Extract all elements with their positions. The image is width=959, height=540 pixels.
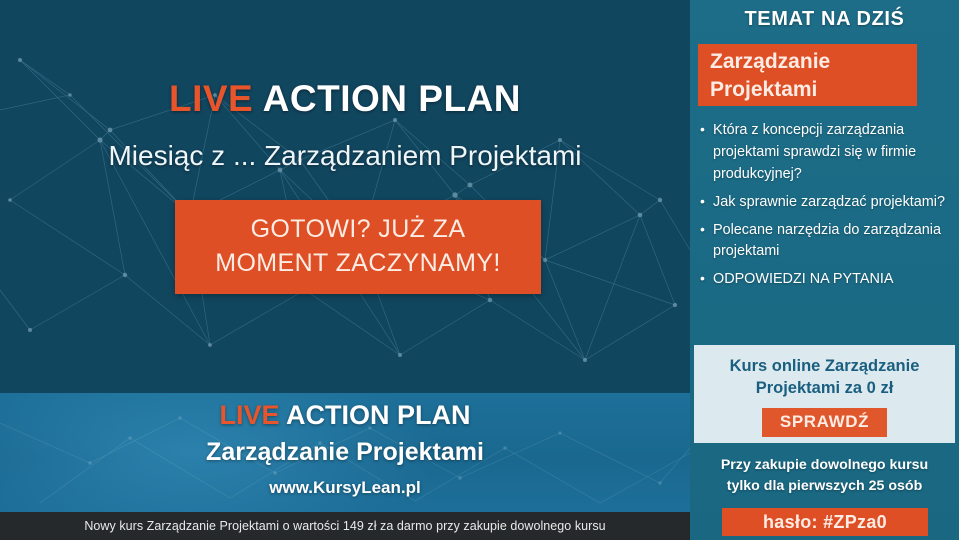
brand-title: LIVE ACTION PLAN — [0, 400, 690, 431]
topic-line-1: Zarządzanie — [710, 48, 917, 76]
list-item: Polecane narzędzia do zarządzania projek… — [700, 220, 954, 264]
list-item: Jak sprawnie zarządzać projektami? — [700, 192, 954, 214]
promo-code-badge: hasło: #ZPza0 — [722, 508, 928, 536]
offer-line-1: Kurs online Zarządzanie — [730, 355, 920, 377]
broadcast-overlay: LIVE ACTION PLAN Miesiąc z ... Zarządzan… — [0, 0, 959, 540]
sidebar-title: TEMAT NA DZIŚ — [690, 8, 959, 31]
topic-line-2: Projektami — [710, 76, 917, 104]
starting-soon-banner: GOTOWI? JUŻ ZA MOMENT ZACZYNAMY! — [175, 200, 541, 294]
offer-conditions-line-2: tylko dla pierwszych 25 osób — [690, 476, 959, 497]
check-offer-button[interactable]: SPRAWDŹ — [762, 408, 887, 437]
offer-line-2: Projektami za 0 zł — [756, 377, 894, 399]
promo-code-text: hasło: #ZPza0 — [763, 512, 887, 533]
stage-background: LIVE ACTION PLAN Miesiąc z ... Zarządzan… — [0, 0, 690, 540]
offer-conditions: Przy zakupie dowolnego kursu tylko dla p… — [690, 455, 959, 498]
list-item: Która z koncepcji zarządzania projektami… — [700, 120, 954, 186]
page-title: LIVE ACTION PLAN — [0, 78, 690, 120]
list-item: ODPOWIEDZI NA PYTANIA — [700, 269, 954, 291]
brand-title-rest: ACTION PLAN — [286, 400, 471, 430]
brand-lockup: LIVE ACTION PLAN Zarządzanie Projektami … — [0, 400, 690, 498]
brand-title-highlight: LIVE — [219, 400, 279, 430]
brand-website: www.KursyLean.pl — [0, 478, 690, 498]
page-subtitle: Miesiąc z ... Zarządzaniem Projektami — [0, 140, 690, 172]
starting-soon-line-2: MOMENT ZACZYNAMY! — [215, 247, 501, 281]
topic-badge: Zarządzanie Projektami — [698, 44, 917, 106]
news-ticker-text: Nowy kurs Zarządzanie Projektami o warto… — [84, 519, 605, 533]
course-offer-panel: Kurs online Zarządzanie Projektami za 0 … — [694, 345, 955, 443]
brand-subtitle: Zarządzanie Projektami — [0, 438, 690, 467]
starting-soon-line-1: GOTOWI? JUŻ ZA — [251, 213, 466, 247]
page-title-highlight: LIVE — [169, 78, 253, 119]
offer-conditions-line-1: Przy zakupie dowolnego kursu — [690, 455, 959, 476]
page-title-rest: ACTION PLAN — [263, 78, 521, 119]
agenda-list: Która z koncepcji zarządzania projektami… — [700, 120, 954, 297]
news-ticker-bar: Nowy kurs Zarządzanie Projektami o warto… — [0, 512, 690, 540]
